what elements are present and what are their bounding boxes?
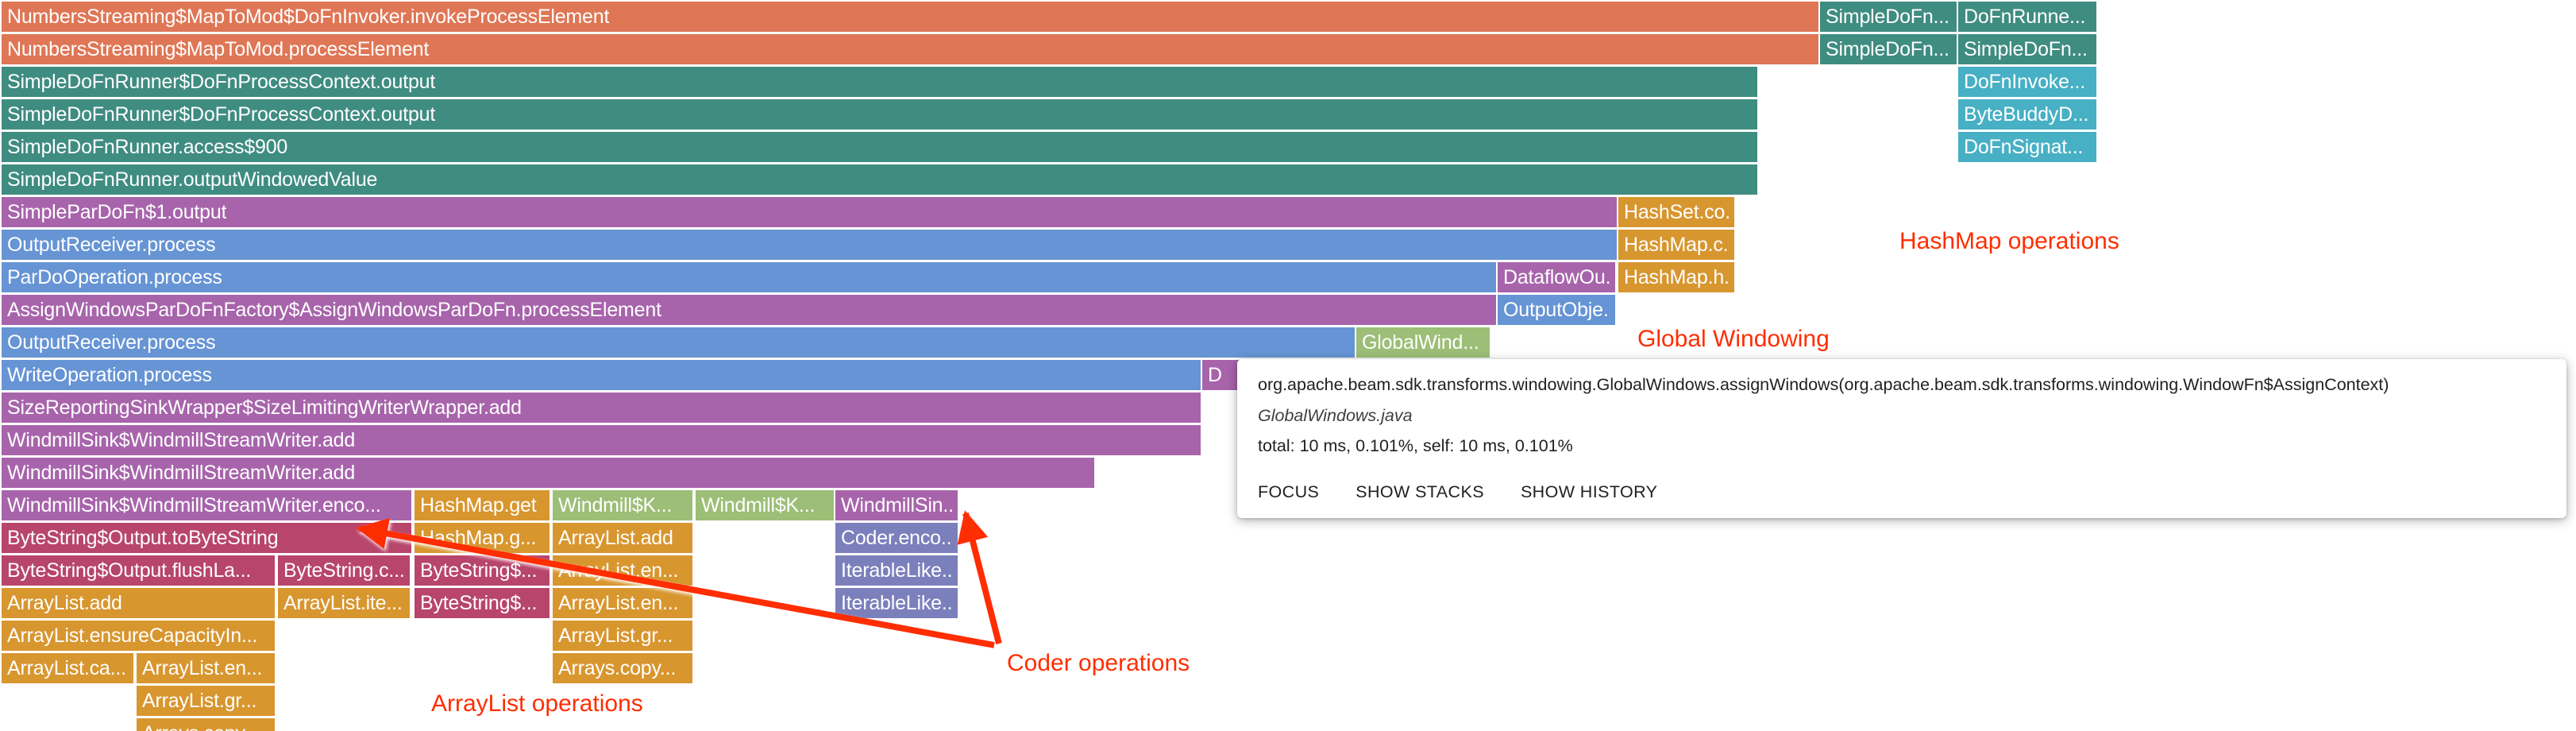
flame-frame[interactable]: HashSet.co... xyxy=(1618,197,1734,227)
flame-frame-label: Windmill$K... xyxy=(701,496,815,516)
flame-frame-label: IterableLike... xyxy=(841,561,952,581)
flame-frame[interactable]: NumbersStreaming$MapToMod$DoFnInvoker.in… xyxy=(2,2,1818,32)
flame-frame-label: ArrayList.gr... xyxy=(142,691,256,711)
flame-frame-label: WindmillSink$WindmillStreamWriter.enco..… xyxy=(7,496,381,516)
tooltip-stats: total: 10 ms, 0.101%, self: 10 ms, 0.101… xyxy=(1258,438,2546,455)
flame-frame[interactable]: DataflowOu... xyxy=(1498,262,1615,292)
flame-frame[interactable]: DoFnSignat... xyxy=(1958,132,2096,162)
flame-graph-canvas: NumbersStreaming$MapToMod$DoFnInvoker.in… xyxy=(0,0,2576,731)
flame-frame-label: HashMap.h... xyxy=(1624,268,1729,288)
flame-frame-label: DataflowOu... xyxy=(1503,268,1610,288)
flame-frame-label: ByteString$... xyxy=(420,594,537,613)
flame-frame-label: Windmill$K... xyxy=(558,496,672,516)
annotation-label-global: Global Windowing xyxy=(1637,326,1830,353)
flame-frame[interactable]: SimpleDoFnRunner.access$900 xyxy=(2,132,1757,162)
flame-frame[interactable]: IterableLike... xyxy=(835,588,958,618)
flame-frame-label: SimpleDoFnRunner$DoFnProcessContext.outp… xyxy=(7,105,435,125)
flame-frame[interactable]: Windmill$K... xyxy=(696,490,834,520)
flame-frame[interactable]: IterableLike... xyxy=(835,555,958,586)
flame-frame[interactable]: SimpleDoFn... xyxy=(1958,34,2096,64)
flame-frame[interactable]: DoFnRunne... xyxy=(1958,2,2096,32)
show-stacks-button[interactable]: SHOW STACKS xyxy=(1355,482,1484,502)
flame-frame[interactable]: ArrayList.ite... xyxy=(278,588,410,618)
flame-frame-label: Arrays.copy... xyxy=(558,659,676,679)
flame-frame[interactable]: HashMap.get xyxy=(415,490,550,520)
flame-frame-label: SimpleDoFn... xyxy=(1826,40,1949,60)
flame-frame-label: IterableLike... xyxy=(841,594,952,613)
flame-frame[interactable]: ArrayList.ca... xyxy=(2,653,133,683)
annotation-label-arraylist: ArrayList operations xyxy=(431,690,643,717)
flame-frame[interactable]: HashMap.c... xyxy=(1618,230,1734,260)
flame-frame-label: WindmillSink$WindmillStreamWriter.add xyxy=(7,463,355,483)
flame-frame-label: GlobalWind... xyxy=(1362,333,1479,353)
flame-frame[interactable]: ArrayList.ensureCapacityIn... xyxy=(2,621,275,651)
flame-frame[interactable]: SizeReportingSinkWrapper$SizeLimitingWri… xyxy=(2,393,1201,423)
flame-frame-label: SimpleParDoFn$1.output xyxy=(7,203,226,222)
flame-frame-label: HashSet.co... xyxy=(1624,203,1729,222)
flame-frame[interactable]: ParDoOperation.process xyxy=(2,262,1496,292)
flame-frame[interactable]: SimpleParDoFn$1.output xyxy=(2,197,1617,227)
flame-frame-label: NumbersStreaming$MapToMod$DoFnInvoker.in… xyxy=(7,7,609,27)
flame-frame[interactable]: HashMap.h... xyxy=(1618,262,1734,292)
flame-frame[interactable]: AssignWindowsParDoFnFactory$AssignWindow… xyxy=(2,295,1496,325)
flame-frame[interactable]: Windmill$K... xyxy=(553,490,692,520)
flame-frame[interactable]: SimpleDoFn... xyxy=(1820,2,1957,32)
flame-frame-label: ArrayList.ensureCapacityIn... xyxy=(7,626,257,646)
flame-frame[interactable]: WindmillSink$WindmillStreamWriter.add xyxy=(2,458,1094,488)
flame-frame-label: SimpleDoFnRunner.outputWindowedValue xyxy=(7,170,377,190)
flame-frame[interactable]: ArrayList.gr... xyxy=(553,621,692,651)
flame-frame[interactable]: WindmillSin... xyxy=(835,490,958,520)
flame-frame-label: ArrayList.en... xyxy=(558,561,678,581)
flame-frame[interactable]: WindmillSink$WindmillStreamWriter.enco..… xyxy=(2,490,411,520)
flame-frame[interactable]: HashMap.g... xyxy=(415,523,550,553)
annotation-label-hashmap: HashMap operations xyxy=(1899,228,2119,255)
flame-frame-label: ArrayList.add xyxy=(558,528,673,548)
flame-frame-label: Coder.enco... xyxy=(841,528,952,548)
flame-frame-label: HashMap.get xyxy=(420,496,537,516)
flame-frame[interactable]: ByteString$Output.flushLa... xyxy=(2,555,275,586)
flame-frame[interactable]: DoFnInvoke... xyxy=(1958,67,2096,97)
flame-frame[interactable]: ArrayList.en... xyxy=(553,555,692,586)
flame-frame[interactable]: ArrayList.en... xyxy=(137,653,275,683)
flame-frame-label: SimpleDoFnRunner.access$900 xyxy=(7,137,287,157)
flame-frame[interactable]: ByteString$... xyxy=(415,588,550,618)
flame-frame-label: ArrayList.add xyxy=(7,594,122,613)
flame-frame[interactable]: Arrays.copy... xyxy=(137,718,275,731)
flame-frame-label: ByteString$Output.flushLa... xyxy=(7,561,251,581)
flame-frame-label: ArrayList.ite... xyxy=(283,594,403,613)
flame-frame-label: SimpleDoFn... xyxy=(1964,40,2088,60)
flame-frame[interactable]: WriteOperation.process xyxy=(2,360,1201,390)
flame-frame[interactable]: Arrays.copy... xyxy=(553,653,692,683)
flame-frame-label: NumbersStreaming$MapToMod.processElement xyxy=(7,40,429,60)
flame-frame-label: SimpleDoFn... xyxy=(1826,7,1949,27)
flame-frame[interactable]: SimpleDoFnRunner.outputWindowedValue xyxy=(2,164,1757,195)
show-history-button[interactable]: SHOW HISTORY xyxy=(1521,482,1657,502)
flame-frame-label: ArrayList.gr... xyxy=(558,626,673,646)
flame-frame[interactable]: ByteString$Output.toByteString xyxy=(2,523,411,553)
flame-frame-label: ArrayList.en... xyxy=(558,594,678,613)
frame-tooltip[interactable]: org.apache.beam.sdk.transforms.windowing… xyxy=(1237,359,2566,518)
flame-frame[interactable]: ByteString$... xyxy=(415,555,550,586)
flame-frame-label: OutputObje... xyxy=(1503,300,1610,320)
flame-frame-label: AssignWindowsParDoFnFactory$AssignWindow… xyxy=(7,300,661,320)
flame-frame-label: ByteString.c... xyxy=(283,561,404,581)
flame-frame-label: SizeReportingSinkWrapper$SizeLimitingWri… xyxy=(7,398,522,418)
flame-frame-label: D xyxy=(1208,365,1222,385)
flame-frame-label: ByteString$... xyxy=(420,561,537,581)
flame-frame-label: OutputReceiver.process xyxy=(7,235,215,255)
flame-frame-label: SimpleDoFnRunner$DoFnProcessContext.outp… xyxy=(7,72,435,92)
flame-frame[interactable]: ArrayList.add xyxy=(553,523,692,553)
flame-frame-label: DoFnRunne... xyxy=(1964,7,2085,27)
flame-frame-label: OutputReceiver.process xyxy=(7,333,215,353)
flame-frame-label: HashMap.c... xyxy=(1624,235,1729,255)
flame-frame[interactable]: OutputReceiver.process xyxy=(2,230,1617,260)
flame-frame-label: DoFnInvoke... xyxy=(1964,72,2085,92)
tooltip-source-file: GlobalWindows.java xyxy=(1258,408,2546,425)
flame-frame-label: ArrayList.en... xyxy=(142,659,262,679)
flame-frame-label: ByteBuddyD... xyxy=(1964,105,2088,125)
flame-frame-label: WindmillSin... xyxy=(841,496,952,516)
flame-frame-label: HashMap.g... xyxy=(420,528,536,548)
flame-frame[interactable]: NumbersStreaming$MapToMod.processElement xyxy=(2,34,1818,64)
flame-frame[interactable]: ArrayList.en... xyxy=(553,588,692,618)
flame-frame-label: ByteString$Output.toByteString xyxy=(7,528,278,548)
flame-frame-label: ParDoOperation.process xyxy=(7,268,222,288)
flame-frame[interactable]: OutputReceiver.process xyxy=(2,327,1355,358)
flame-frame[interactable]: SimpleDoFn... xyxy=(1820,34,1957,64)
flame-frame-label: WindmillSink$WindmillStreamWriter.add xyxy=(7,431,355,451)
tooltip-actions: FOCUS SHOW STACKS SHOW HISTORY xyxy=(1258,482,2546,502)
flame-frame-label: WriteOperation.process xyxy=(7,365,212,385)
tooltip-signature: org.apache.beam.sdk.transforms.windowing… xyxy=(1258,377,2546,394)
flame-frame[interactable]: SimpleDoFnRunner$DoFnProcessContext.outp… xyxy=(2,99,1757,130)
flame-frame[interactable]: WindmillSink$WindmillStreamWriter.add xyxy=(2,425,1201,455)
flame-frame-label: DoFnSignat... xyxy=(1964,137,2083,157)
flame-frame[interactable]: GlobalWind... xyxy=(1356,327,1490,358)
flame-frame-label: ArrayList.ca... xyxy=(7,659,126,679)
focus-button[interactable]: FOCUS xyxy=(1258,482,1319,502)
flame-frame[interactable]: SimpleDoFnRunner$DoFnProcessContext.outp… xyxy=(2,67,1757,97)
flame-frame[interactable]: Coder.enco... xyxy=(835,523,958,553)
flame-frame[interactable]: ArrayList.gr... xyxy=(137,686,275,716)
annotation-label-coder: Coder operations xyxy=(1007,650,1190,677)
flame-frame[interactable]: ArrayList.add xyxy=(2,588,275,618)
flame-frame[interactable]: ByteString.c... xyxy=(278,555,410,586)
flame-frame[interactable]: ByteBuddyD... xyxy=(1958,99,2096,130)
flame-frame-label: Arrays.copy... xyxy=(142,724,260,731)
flame-frame[interactable]: OutputObje... xyxy=(1498,295,1615,325)
